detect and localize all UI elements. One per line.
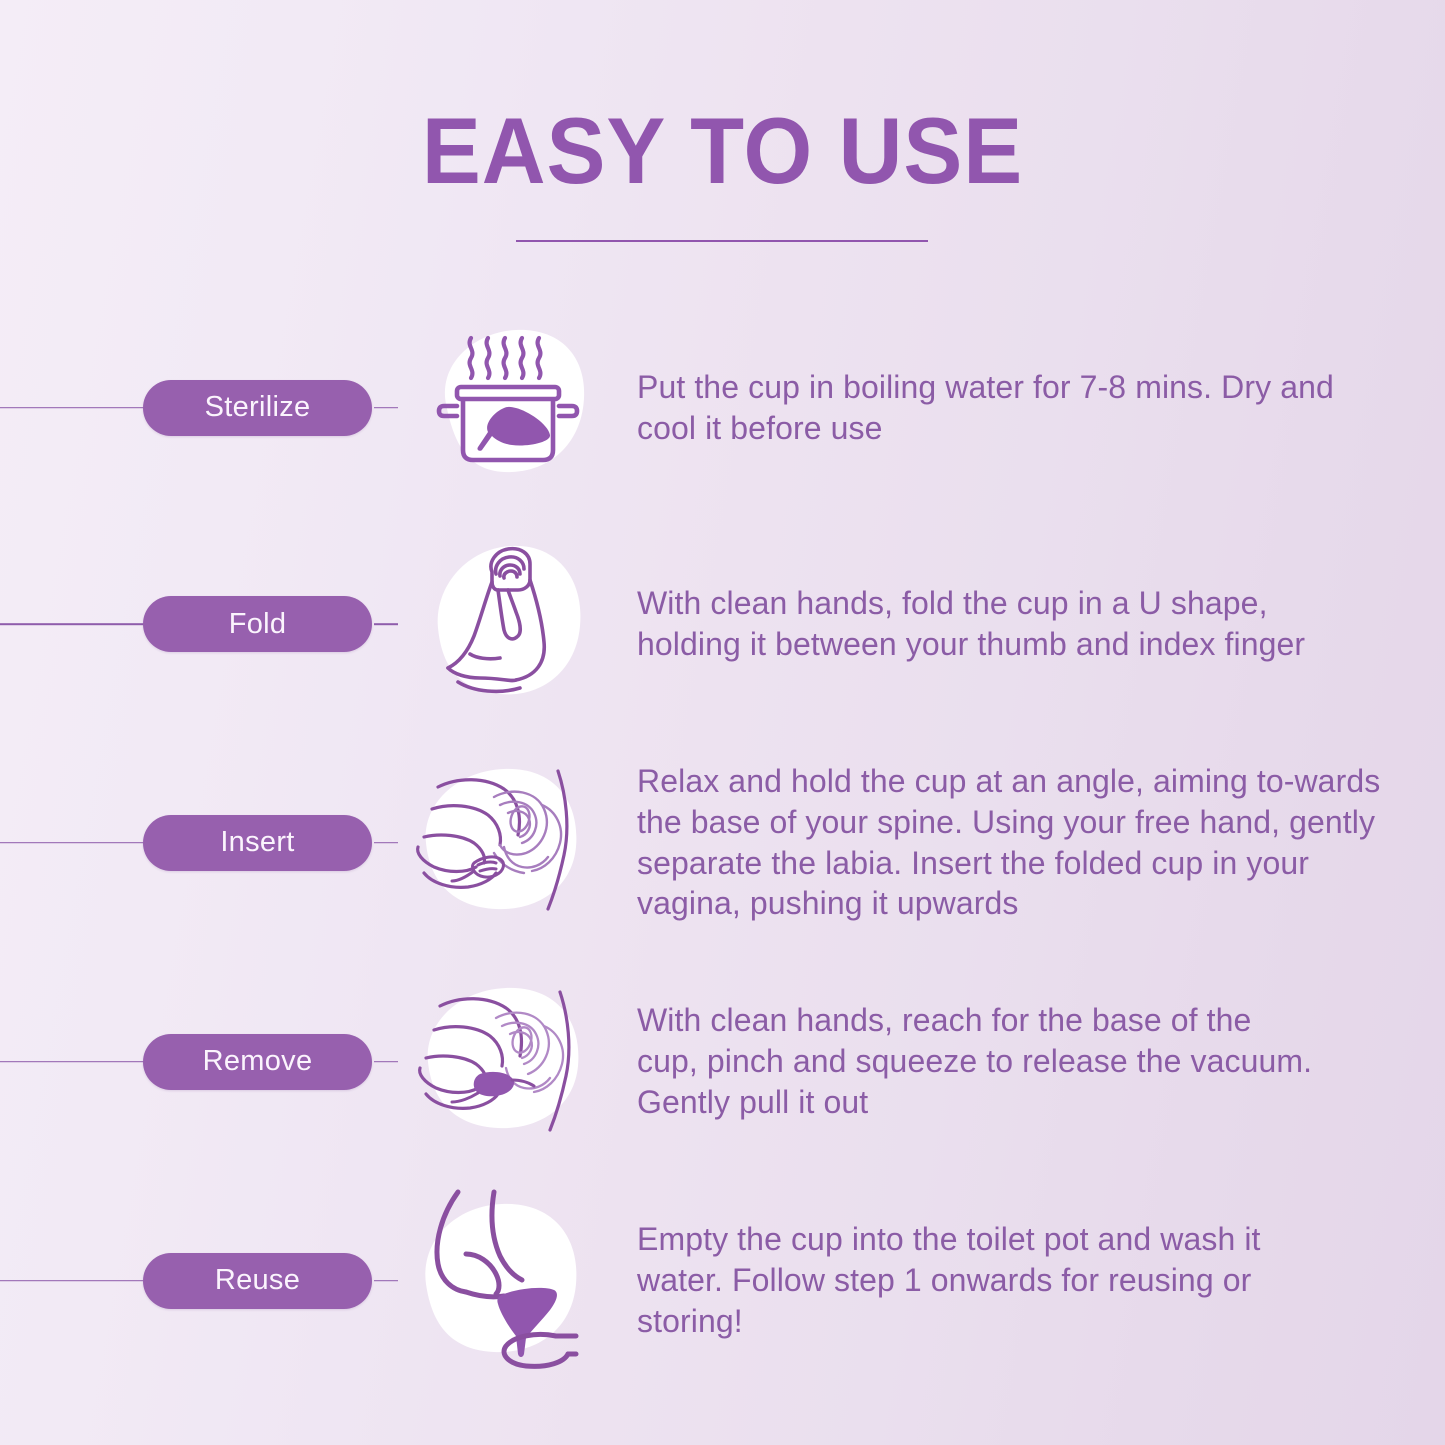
step-pill-label: Fold	[229, 608, 287, 641]
connector-line-right	[374, 407, 398, 409]
connector-line-right	[374, 1280, 398, 1282]
step-description: With clean hands, fold the cup in a U sh…	[637, 583, 1337, 665]
connector-line-left	[0, 842, 145, 844]
step-description: Empty the cup into the toilet pot and wa…	[637, 1219, 1267, 1342]
step-pill-label: Remove	[203, 1045, 313, 1078]
connector-line-right	[374, 623, 398, 625]
page-title: EASY TO USE	[43, 0, 1401, 198]
step-pill-sterilize[interactable]: Sterilize	[143, 380, 372, 436]
hand-removing-cup-anatomy-icon	[408, 962, 608, 1162]
step-icon-column	[400, 743, 615, 943]
step-text-column: With clean hands, reach for the base of …	[615, 1000, 1445, 1123]
step-pill-label: Insert	[220, 826, 294, 859]
step-pill-fold[interactable]: Fold	[143, 596, 372, 652]
step-icon-column	[400, 524, 615, 724]
step-description: With clean hands, reach for the base of …	[637, 1000, 1317, 1123]
hand-folding-cup-icon	[408, 524, 608, 724]
step-row-sterilize: Sterilize	[0, 300, 1445, 515]
connector-line-left	[0, 623, 145, 625]
steps-list: Sterilize	[0, 300, 1445, 1390]
step-label-column: Remove	[0, 952, 400, 1171]
step-icon-column	[400, 308, 615, 508]
step-text-column: Empty the cup into the toilet pot and wa…	[615, 1219, 1445, 1342]
step-label-column: Insert	[0, 733, 400, 952]
step-label-column: Fold	[0, 515, 400, 733]
connector-line-left	[0, 407, 145, 409]
step-text-column: Relax and hold the cup at an angle, aimi…	[615, 761, 1445, 925]
infographic-page: EASY TO USE Sterilize	[0, 0, 1445, 1445]
step-label-column: Sterilize	[0, 300, 400, 515]
step-pill-insert[interactable]: Insert	[143, 815, 372, 871]
connector-line-left	[0, 1280, 145, 1282]
step-icon-column	[400, 962, 615, 1162]
hand-emptying-cup-toilet-icon	[408, 1176, 608, 1386]
connector-line-right	[374, 842, 398, 844]
step-row-fold: Fold	[0, 515, 1445, 733]
hand-inserting-cup-anatomy-icon	[408, 743, 608, 943]
step-pill-label: Reuse	[215, 1264, 300, 1297]
step-pill-reuse[interactable]: Reuse	[143, 1253, 372, 1309]
connector-line-right	[374, 1061, 398, 1063]
step-description: Put the cup in boiling water for 7-8 min…	[637, 367, 1385, 449]
step-text-column: Put the cup in boiling water for 7-8 min…	[615, 367, 1445, 449]
title-underline-divider	[516, 240, 928, 242]
boiling-pot-with-cup-icon	[408, 308, 608, 508]
step-icon-column	[400, 1176, 615, 1386]
step-row-remove: Remove	[0, 952, 1445, 1171]
step-row-reuse: Reuse	[0, 1171, 1445, 1390]
step-pill-label: Sterilize	[205, 391, 311, 424]
step-pill-remove[interactable]: Remove	[143, 1034, 372, 1090]
step-text-column: With clean hands, fold the cup in a U sh…	[615, 583, 1445, 665]
step-label-column: Reuse	[0, 1171, 400, 1390]
header: EASY TO USE	[0, 0, 1445, 198]
connector-line-left	[0, 1061, 145, 1063]
step-row-insert: Insert	[0, 733, 1445, 952]
step-description: Relax and hold the cup at an angle, aimi…	[637, 761, 1385, 925]
